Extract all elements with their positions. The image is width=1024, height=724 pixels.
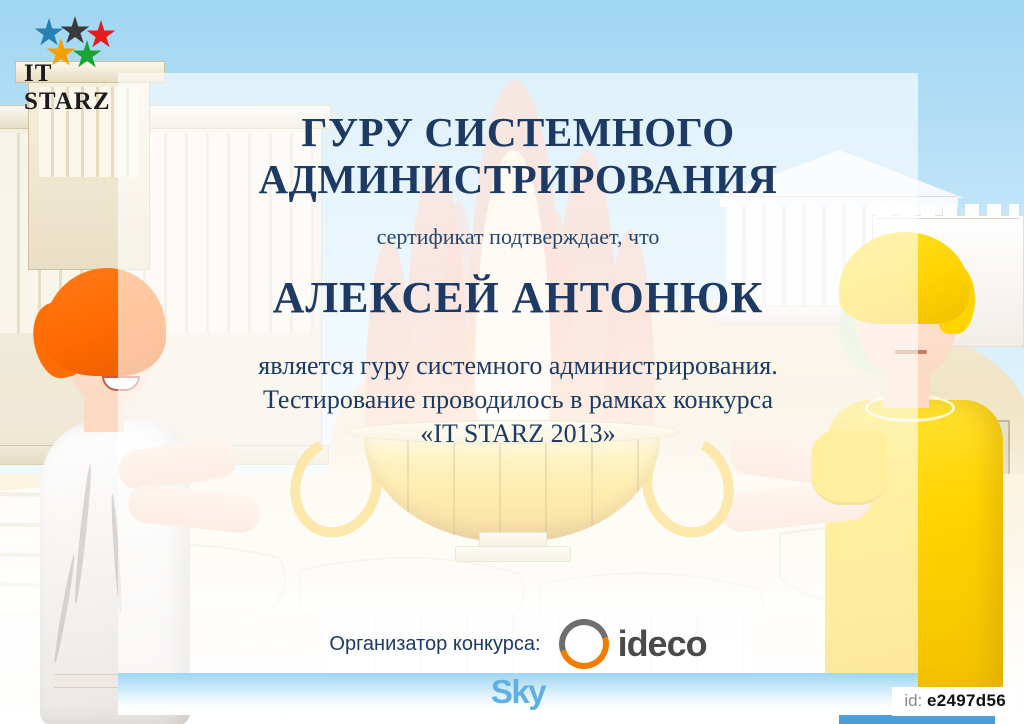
star-red-icon [86, 20, 116, 50]
certificate-body: является гуру системного администрирован… [118, 349, 918, 450]
certificate-subtitle: сертификат подтверждает, что [118, 224, 918, 250]
body-line-1: является гуру системного администрирован… [118, 349, 918, 383]
ideco-swirl-icon [550, 610, 618, 678]
recipient-name: АЛЕКСЕЙ АНТОНЮК [118, 272, 918, 323]
title-line-1: ГУРУ СИСТЕМНОГО [118, 109, 918, 156]
certificate-id-badge: id: e2497d56 [892, 687, 1018, 716]
skydns-logo[interactable]: SkyDNS [743, 675, 808, 713]
title-line-2: АДМИНИСТРИРОВАНИЯ [118, 156, 918, 203]
star-black-icon [60, 16, 90, 46]
body-line-2: Тестирование проводилось в рамках конкур… [118, 383, 918, 417]
skydns-part-sky: Sky [118, 673, 918, 715]
certificate-canvas: IT STARZ ГУРУ СИСТЕМНОГО АДМИНИСТРИРОВАН… [0, 0, 1024, 724]
certificate-title: ГУРУ СИСТЕМНОГО АДМИНИСТРИРОВАНИЯ [118, 109, 918, 202]
id-value: e2497d56 [927, 691, 1006, 710]
ideco-wordmark: ideco [618, 623, 707, 665]
partners-row: Партнеры: LINUX FORMAT Главное в мире Li… [118, 673, 918, 715]
id-label: id: [904, 691, 922, 710]
ideco-logo[interactable]: ideco [559, 619, 707, 669]
certificate-content: ГУРУ СИСТЕМНОГО АДМИНИСТРИРОВАНИЯ сертиф… [118, 73, 918, 673]
body-line-3: «IT STARZ 2013» [118, 417, 918, 451]
it-starz-logo: IT STARZ [14, 12, 124, 90]
organizer-row: Организатор конкурса: ideco [118, 619, 918, 669]
logo-wordmark: IT STARZ [24, 60, 124, 116]
organizer-label: Организатор конкурса: [329, 633, 540, 656]
